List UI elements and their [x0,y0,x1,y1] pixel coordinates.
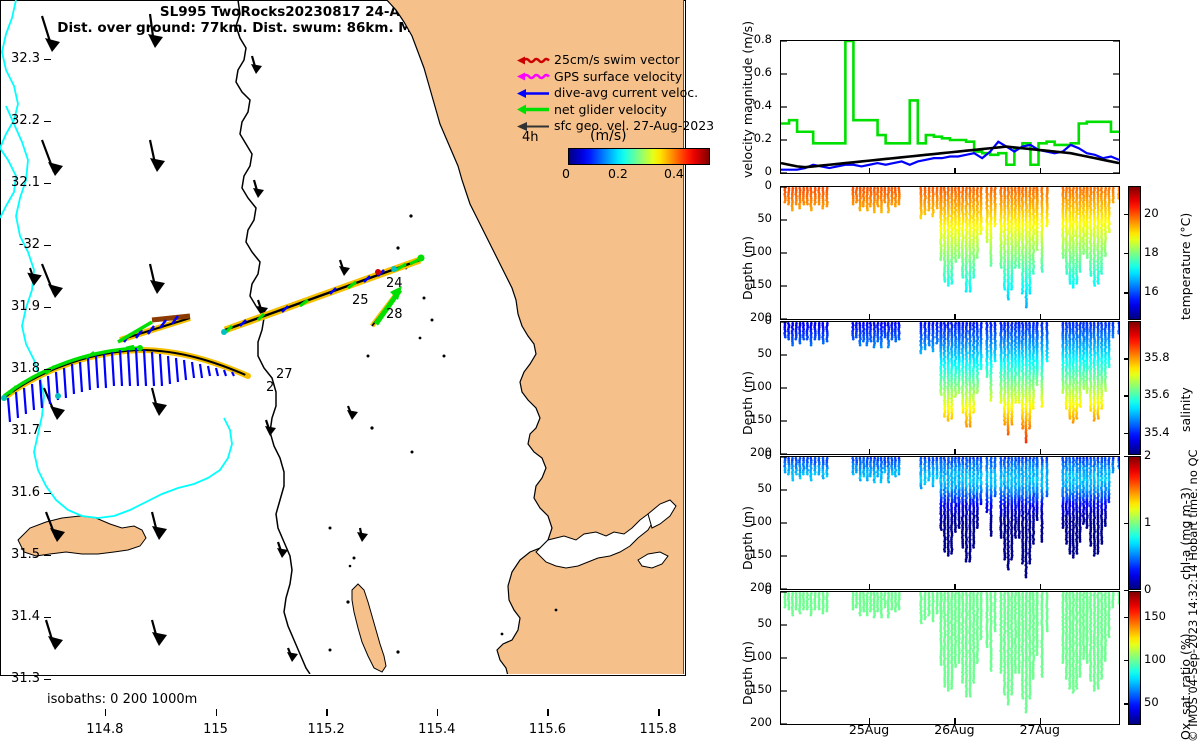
map-x-tickmark-5 [658,709,660,716]
data-point [923,483,926,486]
data-point [806,203,809,206]
data-point [940,393,943,396]
data-point [795,203,798,206]
data-point [866,209,869,212]
data-point [1090,274,1093,277]
map-y-tickmark-5 [44,369,51,371]
data-point [986,240,989,243]
data-point [822,477,825,480]
legend-label-gps-surface: GPS surface velocity [554,69,682,86]
map-colorbar [568,148,686,165]
data-point [859,344,862,347]
track-label-27: 27 [276,367,293,382]
map-y-tick-9: 32.2 [0,113,40,128]
data-point [939,258,942,261]
data-point [863,475,866,478]
data-point [1079,270,1082,273]
data-point [958,391,961,394]
data-point [818,203,821,206]
temperature-section-panel[interactable] [780,186,1120,320]
data-point [810,209,813,212]
data-point [794,338,797,341]
data-point [852,473,855,476]
data-point [986,375,989,378]
data-point [791,344,794,347]
data-point [865,344,868,347]
data-point [965,425,968,428]
data-point [1093,284,1096,287]
data-point [876,475,879,478]
data-point [927,479,930,482]
data-point [957,256,960,259]
map-x-tick-1: 115 [181,722,251,737]
data-point [989,399,992,402]
data-point [817,473,820,476]
data-point [976,256,979,259]
velocity-y-label-0: 0 [738,164,772,178]
velocity-y-label-3: 0.6 [738,65,772,79]
data-point [1025,306,1028,309]
map-cbar-tick-2: 0.4 [664,166,684,181]
data-point [887,346,890,349]
data-point [931,215,934,218]
data-point [1011,423,1014,426]
data-point [859,209,862,212]
data-point [862,205,865,208]
map-interval-label: 4h [522,130,539,145]
data-point [887,211,890,214]
data-point [810,479,813,482]
data-point [924,348,927,351]
velocity-y-label-4: 0.8 [738,32,772,46]
data-point [950,417,953,420]
map-cbar-tick-1: 0.2 [608,166,628,181]
salinity-section-plot [781,322,1119,454]
data-point [898,473,901,476]
temperature-colorbar-title: temperature (°C) [1178,213,1193,320]
data-point [783,201,786,204]
data-point [787,338,790,341]
map-y-tick-1: 31.4 [0,609,40,624]
data-point [962,411,965,414]
data-point [873,481,876,484]
glider-track-lower-arc [1,345,251,422]
data-point [1000,266,1003,269]
data-point [866,479,869,482]
legend-label-net-glider: net glider velocity [554,102,667,119]
legend-label-dive-avg: dive-avg current veloc. [554,85,686,102]
data-point [880,481,883,484]
data-point [822,342,825,345]
data-point [1076,417,1079,420]
data-point [944,280,947,283]
data-point [876,340,879,343]
map-cbar-tick-0: 0 [562,166,570,181]
data-point [1112,201,1115,204]
salinity-colorbar [1128,321,1141,455]
data-point [802,473,805,476]
data-point [1003,423,1006,426]
data-point [919,352,922,355]
map-x-tick-5: 115.8 [623,722,693,737]
swim-vector-arrow-icon [516,54,550,67]
map-y-tick-7: -32 [0,237,40,252]
data-point [869,205,872,208]
data-point [1046,360,1049,363]
data-point [1062,256,1065,259]
map-colorbar-ticks: 0 0.2 0.4 [556,166,686,184]
data-point [883,471,886,474]
data-point [887,481,890,484]
data-point [932,350,935,353]
data-point [943,415,946,418]
data-point [826,475,829,478]
data-point [894,205,897,208]
track-label-24: 24 [386,276,403,291]
data-point [869,475,872,478]
data-point [1097,282,1100,285]
data-point [1079,405,1082,408]
data-point [798,207,801,210]
data-point [935,342,938,345]
map-y-tick-4: 31.7 [0,423,40,438]
map-x-tickmark-0 [105,709,107,716]
data-point [1021,292,1024,295]
data-point [814,338,817,341]
map-x-tick-4: 115.6 [512,722,582,737]
data-point [1100,272,1103,275]
data-point [1036,383,1039,386]
data-point [972,411,975,414]
data-point [1086,256,1089,259]
data-point [936,207,939,210]
data-point [873,211,876,214]
map-y-tickmark-0 [44,679,51,681]
data-point [1032,272,1035,275]
data-point [852,203,855,206]
data-point [1100,407,1103,410]
data-point [1069,282,1072,285]
data-point [947,419,950,422]
data-point [1041,270,1044,273]
data-point [873,346,876,349]
map-y-tickmark-7 [44,245,51,247]
data-point [1018,401,1021,404]
legend-row-net-glider: net glider velocity [516,102,686,119]
map-x-tick-0: 114.8 [70,722,140,737]
map-y-tickmark-1 [44,617,51,619]
data-point [862,340,865,343]
map-y-tickmark-4 [44,431,51,433]
data-point [1072,421,1075,424]
data-point [954,395,957,398]
velocity-magnitude-plot [781,41,1119,173]
map-x-tickmark-4 [547,709,549,716]
data-point [806,473,809,476]
data-point [855,471,858,474]
data-point [1117,332,1119,335]
data-point [890,338,893,341]
data-point [877,205,880,208]
legend-row-dive-avg: dive-avg current veloc. [516,85,686,102]
data-point [1104,254,1107,257]
map-y-tick-5: 31.8 [0,361,40,376]
salinity-colorbar-title: salinity [1178,387,1193,432]
data-point [1014,401,1017,404]
data-point [972,276,975,279]
data-point [1021,427,1024,430]
data-point [1083,387,1086,390]
gps-surface-arrow-icon [516,70,550,83]
data-point [855,336,858,339]
data-point [1112,336,1115,339]
map-y-tickmark-6 [44,307,51,309]
map-x-tickmark-3 [437,709,439,716]
data-point [1018,266,1021,269]
data-point [1025,441,1028,444]
data-point [989,264,992,267]
legend-row-swim-vector: 25cm/s swim vector [516,52,686,69]
data-point [1089,409,1092,412]
data-point [826,340,829,343]
island-garden [352,584,386,672]
data-point [1104,389,1107,392]
data-point [993,225,996,228]
data-point [1036,248,1039,251]
data-point [810,344,813,347]
data-point [1075,282,1078,285]
data-point [928,344,931,347]
map-y-tick-0: 31.3 [0,671,40,686]
data-point [814,473,817,476]
data-point [813,203,816,206]
data-point [870,340,873,343]
map-colorbar-units: (m/s) [590,128,627,144]
legend-label-swim-vector: 25cm/s swim vector [554,52,680,69]
temperature-colorbar [1128,186,1141,320]
glider-track-mid-segment [118,316,190,342]
data-point [1045,225,1048,228]
data-point [859,479,862,482]
track-label-2: 2 [266,380,274,395]
data-point [787,473,790,476]
map-x-tick-3: 115.4 [402,722,472,737]
data-point [880,346,883,349]
data-point [898,203,901,206]
map-y-tickmark-10 [44,59,51,61]
data-point [1117,197,1119,200]
track-label-28: 28 [386,307,403,322]
data-point [1065,407,1068,410]
data-point [932,485,935,488]
data-point [1086,391,1089,394]
data-point [1032,407,1035,410]
data-point [969,290,972,293]
data-point [1029,292,1032,295]
velocity-y-label-1: 0.2 [738,131,772,145]
data-point [924,213,927,216]
data-point [1061,391,1064,394]
data-point [799,477,802,480]
data-point [1082,252,1085,255]
data-point [855,201,858,204]
data-point [890,203,893,206]
data-point [898,338,901,341]
map-y-tick-3: 31.6 [0,485,40,500]
data-point [1065,272,1068,275]
data-point [818,338,821,341]
legend-row-gps-surface: GPS surface velocity [516,69,686,86]
dive-avg-arrow-icon [516,87,550,100]
map-y-tickmark-2 [44,555,51,557]
data-point [894,340,897,343]
data-point [1072,286,1075,289]
data-point [980,368,983,371]
net-glider-arrow-icon [516,103,550,116]
data-point [884,201,887,204]
data-point [795,473,798,476]
data-point [935,477,938,480]
map-y-tickmark-3 [44,493,51,495]
map-y-tickmark-9 [44,121,51,123]
data-point [927,209,930,212]
data-point [965,290,968,293]
data-point [919,217,922,220]
data-point [1069,417,1072,420]
data-point [1007,433,1010,436]
chl-a-section-plot [781,457,1119,589]
data-point [880,211,883,214]
data-point [999,401,1002,404]
map-x-tickmark-1 [216,709,218,716]
data-point [821,207,824,210]
map-panel[interactable]: 25cm/s swim vector GPS surface velocity … [0,0,686,676]
data-point [994,360,997,363]
isobath-200m [236,0,310,674]
data-point [802,203,805,206]
data-point [802,338,805,341]
data-point [1108,231,1111,234]
velocity-magnitude-panel[interactable] [780,40,1120,174]
velocity-y-label-2: 0.4 [738,98,772,112]
data-point [969,425,972,428]
salinity-section-panel[interactable] [780,321,1120,455]
data-point [954,260,957,263]
data-point [1003,288,1006,291]
data-point [799,342,802,345]
data-point [791,209,794,212]
data-point [1010,288,1013,291]
map-y-tick-10: 32.3 [0,51,40,66]
data-point [1007,298,1010,301]
temperature-section-plot [781,187,1119,319]
sfc-geo-velocity-arrows [42,14,362,658]
map-y-tick-6: 31.9 [0,299,40,314]
data-point [791,479,794,482]
map-x-tick-2: 115.2 [291,722,361,737]
data-point [784,336,787,339]
data-point [787,203,790,206]
map-x-tickmark-2 [326,709,328,716]
data-point [1093,419,1096,422]
data-point [1028,427,1031,430]
data-point [947,284,950,287]
map-y-tick-2: 31.5 [0,547,40,562]
data-point [1014,266,1017,269]
track-label-25: 25 [352,293,369,308]
data-point [884,336,887,339]
data-point [891,473,894,476]
data-point [806,338,809,341]
data-point [1108,366,1111,369]
map-legend: 25cm/s swim vector GPS surface velocity … [516,52,686,135]
sfc-geo-arrowheads [45,34,368,662]
data-point [826,205,829,208]
data-point [1040,405,1043,408]
chl-a-section-panel[interactable] [780,456,1120,590]
data-point [976,391,979,394]
data-point [920,487,923,490]
map-y-tick-8: 32.1 [0,175,40,190]
map-y-tickmark-8 [44,183,51,185]
data-point [950,282,953,285]
data-point [784,471,787,474]
data-point [980,233,983,236]
data-point [894,475,897,478]
data-point [1097,417,1100,420]
data-point [852,338,855,341]
data-point [962,276,965,279]
